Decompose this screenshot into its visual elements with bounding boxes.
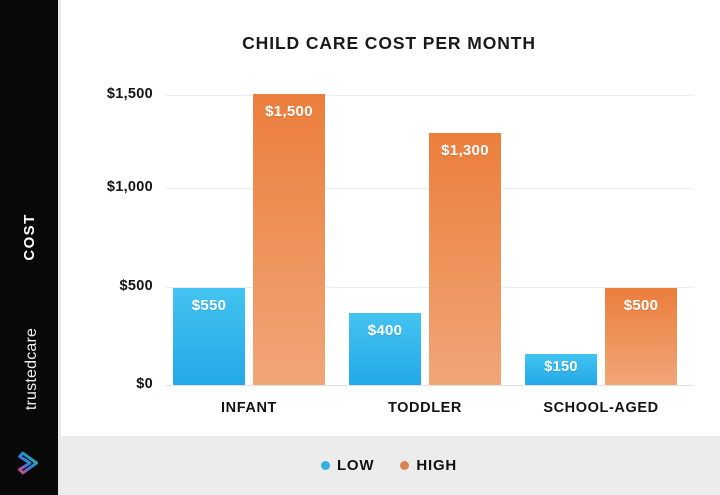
bar-value-label: $500 — [605, 297, 677, 314]
bar-value-label: $1,300 — [429, 142, 501, 159]
legend: LOW HIGH — [58, 436, 720, 495]
legend-item-high[interactable]: HIGH — [400, 457, 457, 474]
bar-toddler-low[interactable]: $400 — [349, 313, 421, 385]
legend-label-high: HIGH — [416, 457, 457, 474]
bar-schoolaged-high[interactable]: $500 — [605, 288, 677, 385]
x-axis-label-infant: INFANT — [173, 400, 325, 416]
x-axis-label-toddler: TODDLER — [349, 400, 501, 416]
bar-toddler-high[interactable]: $1,300 — [429, 133, 501, 385]
y-axis-title: COST — [0, 177, 58, 297]
legend-item-low[interactable]: LOW — [321, 457, 374, 474]
bar-schoolaged-low[interactable]: $150 — [525, 354, 597, 385]
legend-label-low: LOW — [337, 457, 374, 474]
left-sidebar: COST trustedcare — [0, 0, 58, 495]
sidebar-divider — [58, 0, 61, 495]
legend-dot-high-icon — [400, 461, 409, 470]
bar-infant-low[interactable]: $550 — [173, 288, 245, 385]
bar-value-label: $150 — [525, 359, 597, 375]
bar-value-label: $1,500 — [253, 103, 325, 120]
chevron-logo-icon — [14, 448, 44, 478]
bar-value-label: $400 — [349, 322, 421, 339]
plot-area: $1,500 $1,000 $500 $0 $550 $1,500 $400 $… — [61, 0, 720, 436]
bar-value-label: $550 — [173, 297, 245, 314]
chart-screenshot: COST trustedcare CHILD CARE COST PER MON… — [0, 0, 720, 495]
x-axis-label-school-aged: SCHOOL-AGED — [525, 400, 677, 416]
bars-layer: $550 $1,500 $400 $1,300 $150 $500 — [61, 0, 720, 436]
brand-name: trustedcare — [3, 289, 61, 449]
legend-dot-low-icon — [321, 461, 330, 470]
bar-infant-high[interactable]: $1,500 — [253, 94, 325, 385]
